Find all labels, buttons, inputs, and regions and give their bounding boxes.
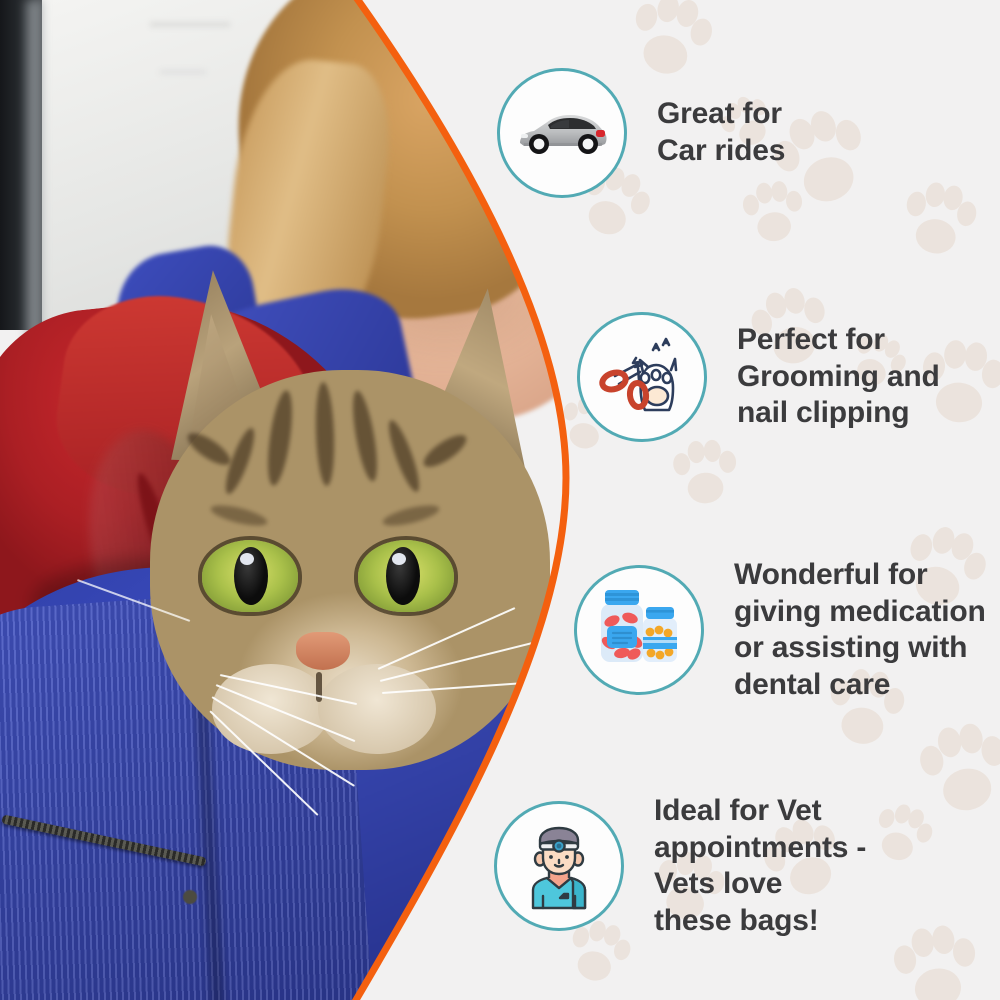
feature-label: Perfect for Grooming and nail clipping xyxy=(737,322,940,432)
infographic-canvas: Great for Car rides xyxy=(0,0,1000,1000)
feature-icon-circle xyxy=(497,68,627,198)
feature-item-vet[interactable]: Ideal for Vet appointments - Vets love t… xyxy=(494,793,866,939)
feature-list: Great for Car rides xyxy=(0,0,1000,1000)
feature-label: Ideal for Vet appointments - Vets love t… xyxy=(654,793,866,939)
pill-bottles-icon xyxy=(589,580,689,680)
feature-icon-circle xyxy=(574,565,704,695)
feature-item-car-rides[interactable]: Great for Car rides xyxy=(497,68,785,198)
feature-icon-circle xyxy=(494,801,624,931)
feature-label: Great for Car rides xyxy=(657,96,785,169)
feature-label: Wonderful for giving medication or assis… xyxy=(734,557,986,703)
feature-item-medication[interactable]: Wonderful for giving medication or assis… xyxy=(574,557,986,703)
feature-icon-circle xyxy=(577,312,707,442)
feature-item-grooming[interactable]: Perfect for Grooming and nail clipping xyxy=(577,312,940,442)
nail-clipper-paw-icon xyxy=(593,328,691,426)
veterinarian-icon xyxy=(509,816,609,916)
car-icon xyxy=(510,81,614,185)
